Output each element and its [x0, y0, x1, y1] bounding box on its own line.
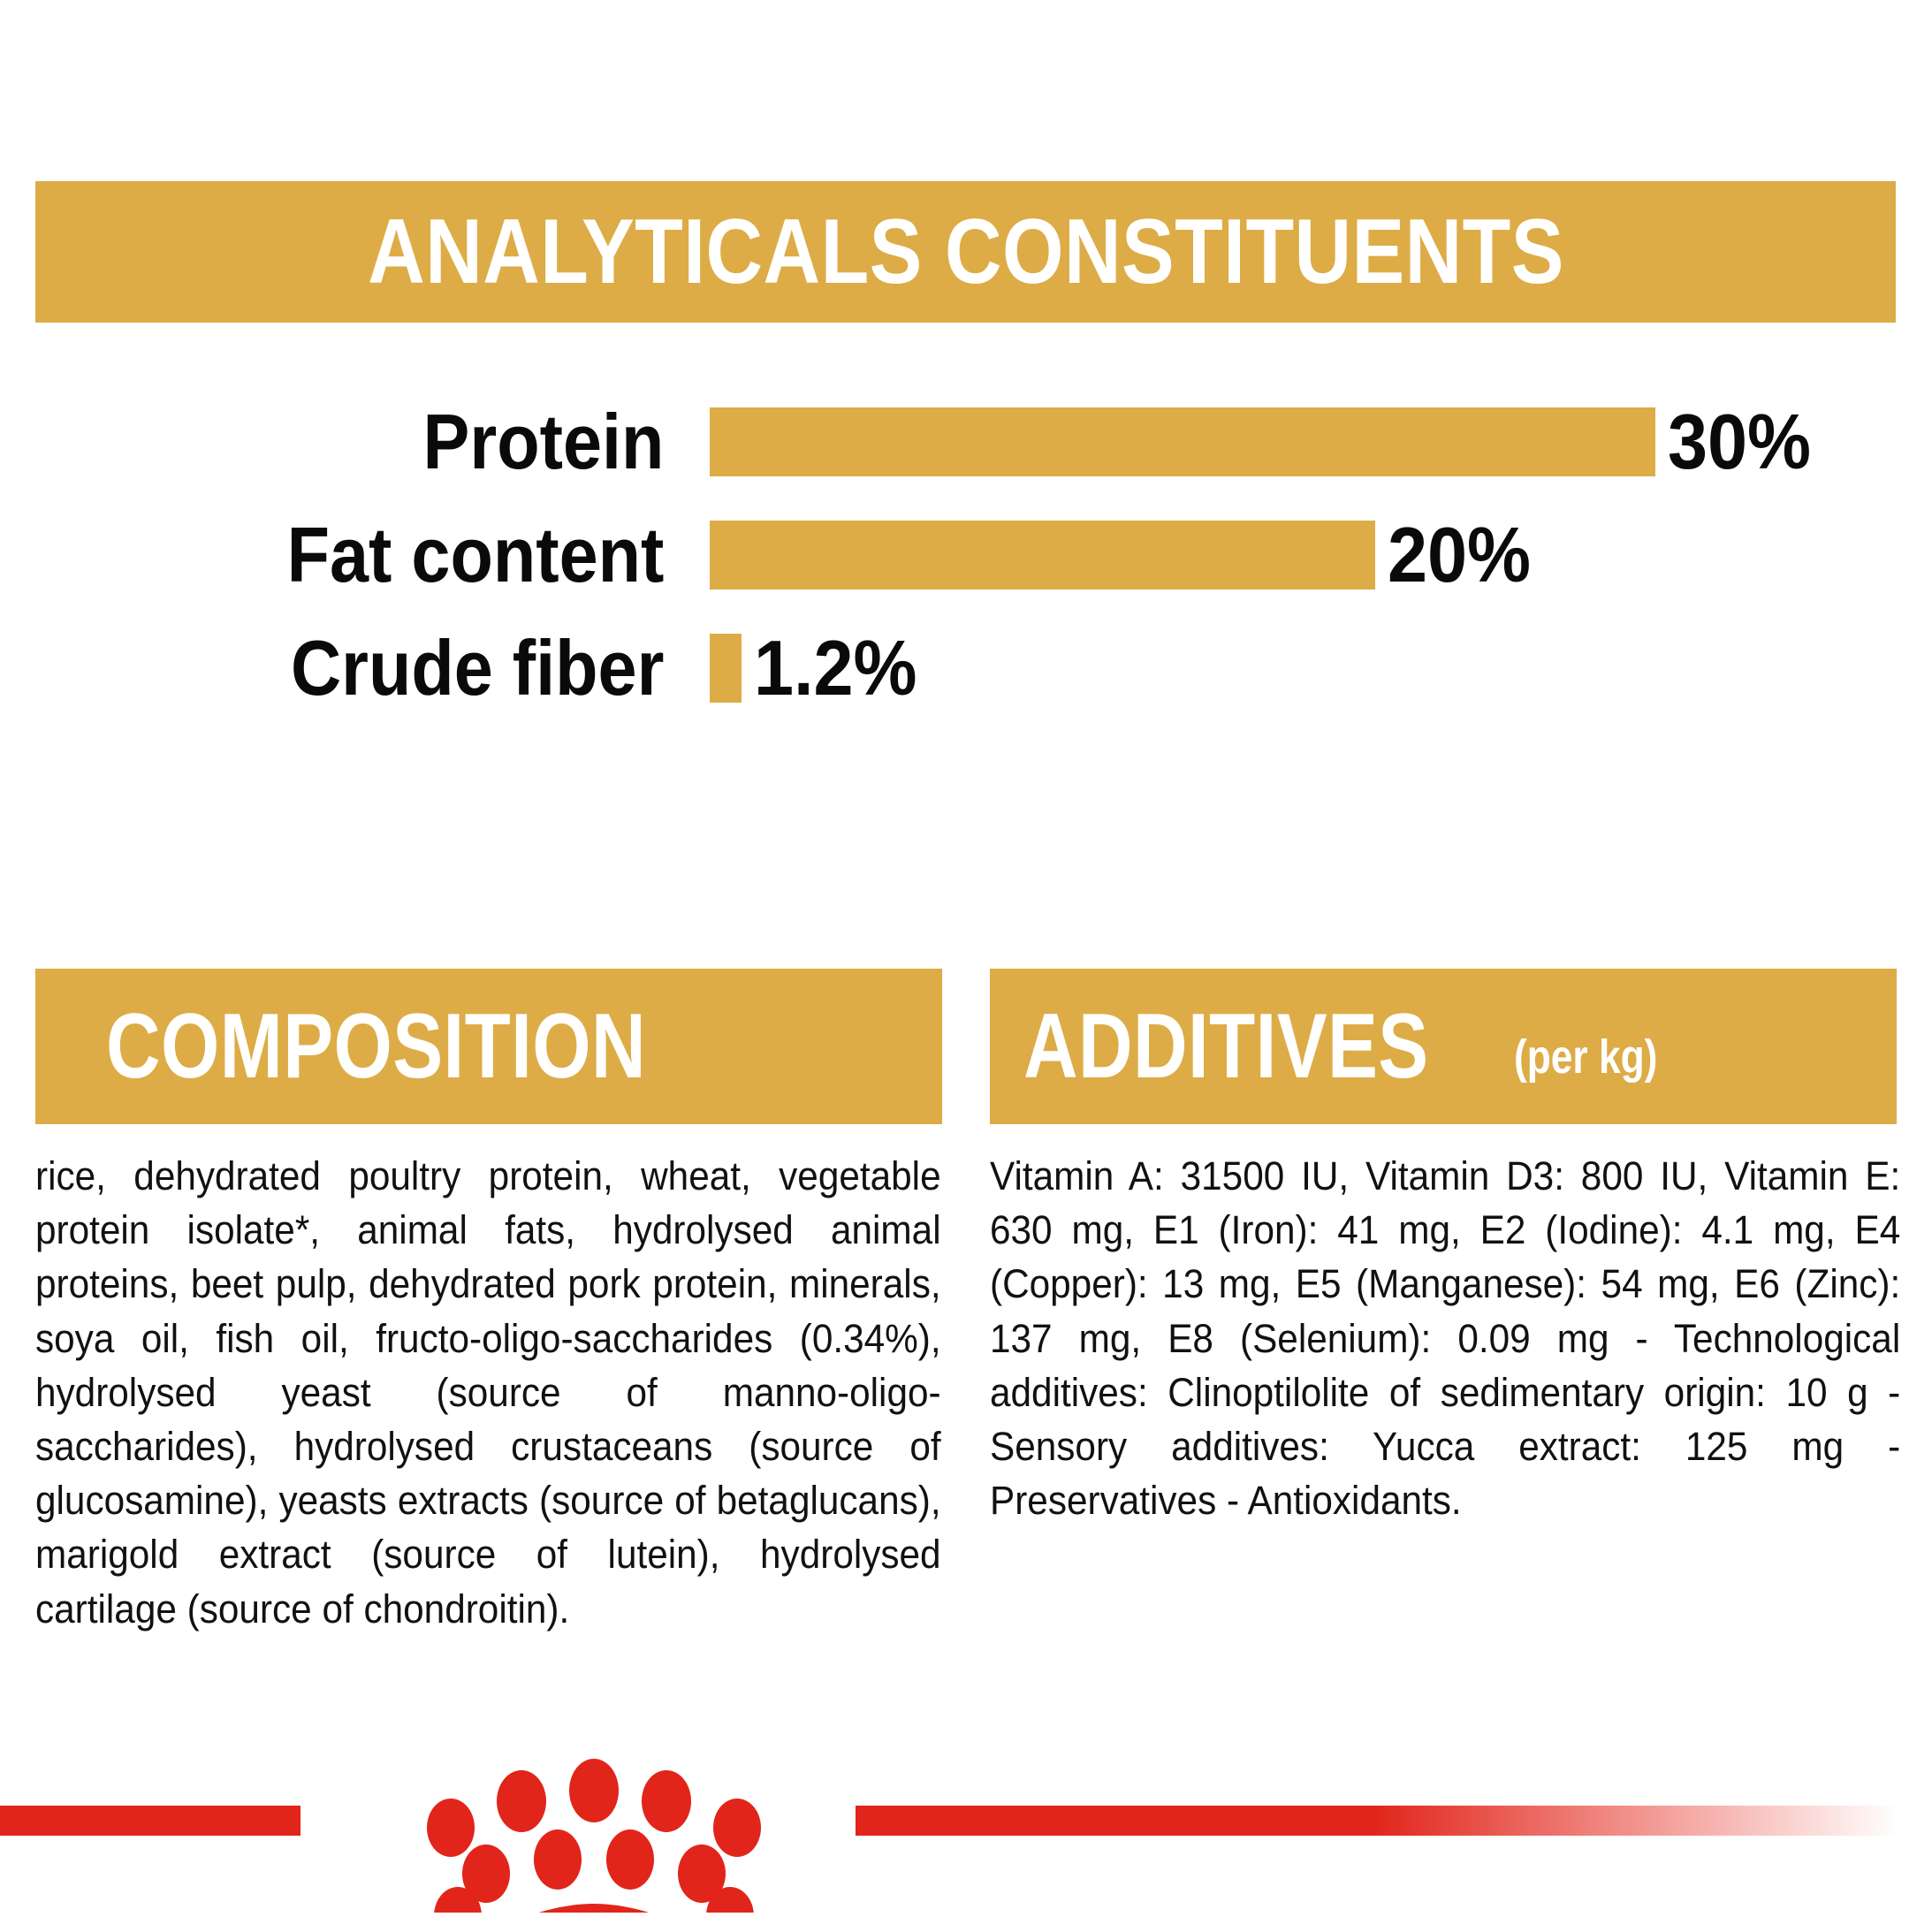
product-label-panel: ANALYTICALS CONSTITUENTS Protein 30% Fat… — [0, 0, 1932, 1932]
analyticals-constituents-header: ANALYTICALS CONSTITUENTS — [35, 181, 1896, 323]
bar-category-label-fat-content: Fat content — [67, 516, 668, 594]
footer-rule-left — [0, 1806, 300, 1836]
bar-crude-fiber — [710, 634, 742, 703]
bar-fat-content — [710, 521, 1375, 589]
analyticals-constituents-title: ANALYTICALS CONSTITUENTS — [368, 206, 1564, 298]
additives-details-text: Vitamin A: 31500 IU, Vitamin D3: 800 IU,… — [990, 1149, 1900, 1527]
bar-value-fat-content: 20% — [1388, 516, 1531, 594]
chart-row: Fat content 20% — [0, 502, 1932, 608]
composition-header: COMPOSITION — [35, 969, 942, 1124]
chart-row: Protein 30% — [0, 389, 1932, 495]
bar-track: 1.2% — [667, 615, 1932, 721]
bar-protein — [710, 407, 1655, 476]
additives-title: ADDITIVES — [1023, 1000, 1429, 1092]
footer-rule-right — [856, 1806, 1932, 1836]
bar-track: 30% — [667, 389, 1932, 495]
bar-value-crude-fiber: 1.2% — [754, 629, 917, 707]
chart-row: Crude fiber 1.2% — [0, 615, 1932, 721]
bar-track: 20% — [667, 502, 1932, 608]
additives-subtitle-per-kg: (per kg) — [1514, 1033, 1657, 1081]
composition-ingredients-text: rice, dehydrated poultry protein, wheat,… — [35, 1149, 941, 1636]
footer-brand-bar — [0, 1723, 1932, 1932]
additives-header: ADDITIVES (per kg) — [990, 969, 1897, 1124]
bar-category-label-crude-fiber: Crude fiber — [67, 629, 668, 707]
composition-title: COMPOSITION — [106, 1000, 646, 1092]
bar-category-label-protein: Protein — [67, 403, 668, 481]
royal-canin-crown-logo — [346, 1743, 824, 1913]
bar-value-protein: 30% — [1668, 403, 1811, 481]
analyticals-bar-chart: Protein 30% Fat content 20% Crude fiber … — [0, 389, 1932, 742]
